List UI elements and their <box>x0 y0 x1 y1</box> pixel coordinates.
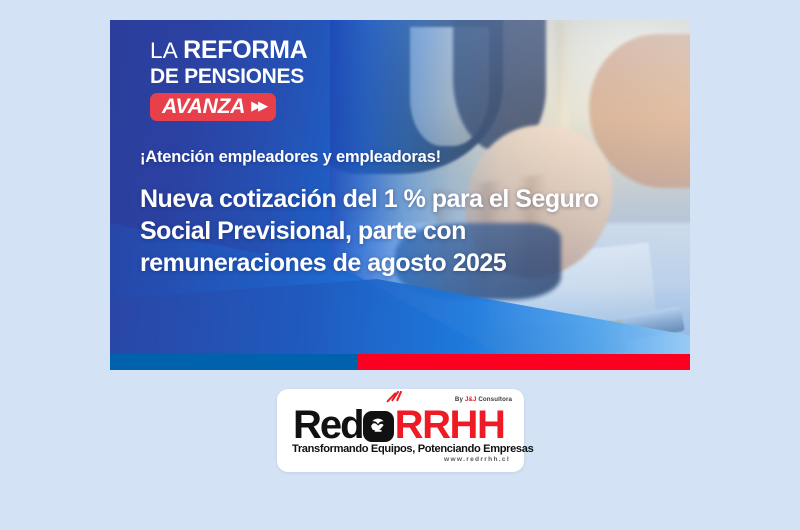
by-prefix: By <box>455 396 465 403</box>
lockup-line-1: LA REFORMA <box>150 38 340 64</box>
logo-website-url: www.redrrhh.cl <box>444 456 510 463</box>
page-root: LA REFORMA DE PENSIONES AVANZA ▶▶ ¡Atenc… <box>0 0 800 530</box>
lockup-reforma: REFORMA <box>183 36 307 64</box>
banner-headline: Nueva cotización del 1 % para el Seguro … <box>140 183 610 279</box>
banner-bottom-bar <box>110 354 690 370</box>
by-amp: J&J <box>465 396 477 403</box>
banner-kicker: ¡Atención empleadores y empleadoras! <box>140 148 610 168</box>
logo-motion-lines-icon <box>387 400 409 413</box>
logo-word-red: Red <box>293 405 363 445</box>
logo-card: By J&J Consultora Red RRHH Transfo <box>277 389 524 472</box>
by-consultora-credit: By J&J Consultora <box>455 396 512 403</box>
logo-wordmark: Red RRHH <box>293 405 505 445</box>
banner-copy: ¡Atención empleadores y empleadoras! Nue… <box>140 148 610 279</box>
lockup-line-2: DE PENSIONES <box>150 65 340 89</box>
logo-handshake-mark-icon <box>363 411 394 442</box>
avanza-label: AVANZA <box>162 96 245 117</box>
lockup-la: LA <box>150 38 177 63</box>
promo-banner: LA REFORMA DE PENSIONES AVANZA ▶▶ ¡Atenc… <box>110 20 690 370</box>
avanza-pill: AVANZA ▶▶ <box>150 93 276 121</box>
logo-word-rrhh: RRHH <box>395 405 505 445</box>
bottom-bar-blue-segment <box>110 354 358 370</box>
bottom-bar-red-segment <box>358 354 690 370</box>
by-suffix: Consultora <box>477 396 512 403</box>
double-chevron-right-icon: ▶▶ <box>251 99 265 112</box>
campaign-lockup: LA REFORMA DE PENSIONES AVANZA ▶▶ <box>150 38 340 121</box>
logo-mark-glyph <box>363 411 394 442</box>
logo-tagline: Transformando Equipos, Potenciando Empre… <box>292 443 533 455</box>
